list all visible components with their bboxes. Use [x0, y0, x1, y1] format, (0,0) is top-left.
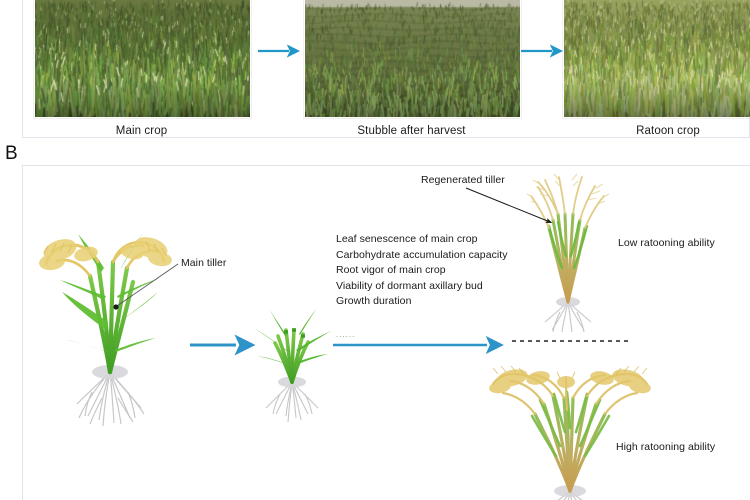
factor-continuation: ...... — [336, 330, 355, 339]
factor-item: Carbohydrate accumulation capacity — [336, 248, 536, 264]
arrow-stubble-to-ratoon — [520, 42, 562, 60]
arrow-main-to-stubble — [257, 42, 299, 60]
caption-stubble: Stubble after harvest — [304, 125, 519, 137]
label-main-tiller: Main tiller — [181, 257, 226, 269]
factor-item: Growth duration — [336, 294, 536, 310]
factor-item: Leaf senescence of main crop — [336, 232, 536, 248]
factor-item: Root vigor of main crop — [336, 263, 536, 279]
figure-root: Main crop Stubble after harvest Ratoon c… — [0, 0, 750, 500]
label-high-ratooning-ability: High ratooning ability — [616, 441, 715, 453]
factor-item: Viability of dormant axillary bud — [336, 279, 536, 295]
label-regenerated-tiller: Regenerated tiller — [421, 174, 505, 186]
main-crop-photo — [34, 0, 251, 118]
stubble-photo — [304, 0, 521, 118]
caption-main-crop: Main crop — [34, 125, 249, 137]
caption-ratoon-crop: Ratoon crop — [563, 125, 750, 137]
ratoon-crop-photo — [563, 0, 750, 118]
panel-a: Main crop Stubble after harvest Ratoon c… — [22, 0, 750, 138]
label-low-ratooning-ability: Low ratooning ability — [618, 237, 715, 249]
ratooning-factor-list: Leaf senescence of main crop Carbohydrat… — [336, 232, 536, 310]
panel-b-label: B — [5, 143, 18, 165]
